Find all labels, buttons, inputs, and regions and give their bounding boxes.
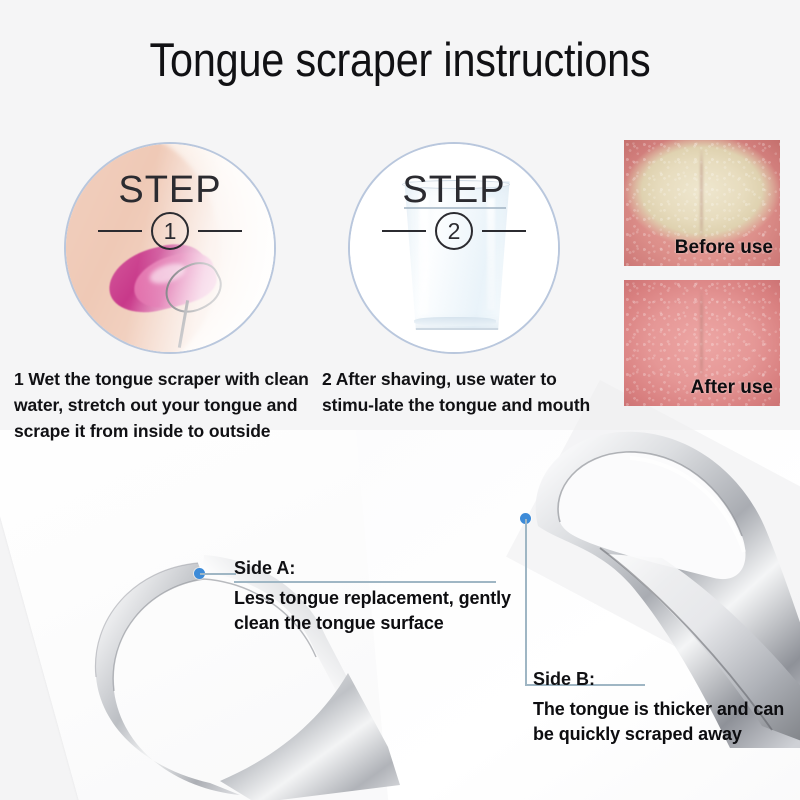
step-2-photo-circle: STEP 2 bbox=[348, 142, 560, 354]
side-b-body: The tongue is thicker and can be quickly… bbox=[533, 697, 795, 747]
after-use-label: After use bbox=[691, 377, 773, 399]
step-rule-right bbox=[198, 230, 242, 232]
step-rule-right bbox=[482, 230, 526, 232]
step-rule-left bbox=[98, 230, 142, 232]
side-a-body: Less tongue replacement, gently clean th… bbox=[234, 586, 534, 636]
side-a-callout: Side A: Less tongue replacement, gently … bbox=[234, 557, 534, 636]
step-1-number: 1 bbox=[151, 212, 189, 250]
step-2-number-row: 2 bbox=[350, 212, 558, 250]
side-a-leader-line bbox=[200, 573, 236, 575]
step-1-number-row: 1 bbox=[66, 212, 274, 250]
step-2-word: STEP bbox=[350, 170, 558, 210]
side-b-callout: Side B: The tongue is thicker and can be… bbox=[533, 668, 795, 747]
step-1-word: STEP bbox=[66, 170, 274, 210]
side-b-title: Side B: bbox=[533, 668, 795, 691]
step-1-photo-circle: STEP 1 bbox=[64, 142, 276, 354]
before-use-photo: Before use bbox=[624, 140, 780, 266]
before-use-label: Before use bbox=[675, 237, 773, 259]
infographic-page: Tongue scraper instructions STEP 1 bbox=[0, 0, 800, 800]
side-a-underline bbox=[234, 581, 496, 583]
step-rule-left bbox=[382, 230, 426, 232]
page-title: Tongue scraper instructions bbox=[48, 32, 752, 88]
after-use-photo: After use bbox=[624, 280, 780, 406]
step-2-number: 2 bbox=[435, 212, 473, 250]
side-b-leader-line-vertical bbox=[525, 519, 527, 684]
step-1-caption: 1 Wet the tongue scraper with clean wate… bbox=[14, 366, 314, 444]
step-2-caption: 2 After shaving, use water to stimu-late… bbox=[322, 366, 612, 418]
side-a-title: Side A: bbox=[234, 557, 534, 580]
